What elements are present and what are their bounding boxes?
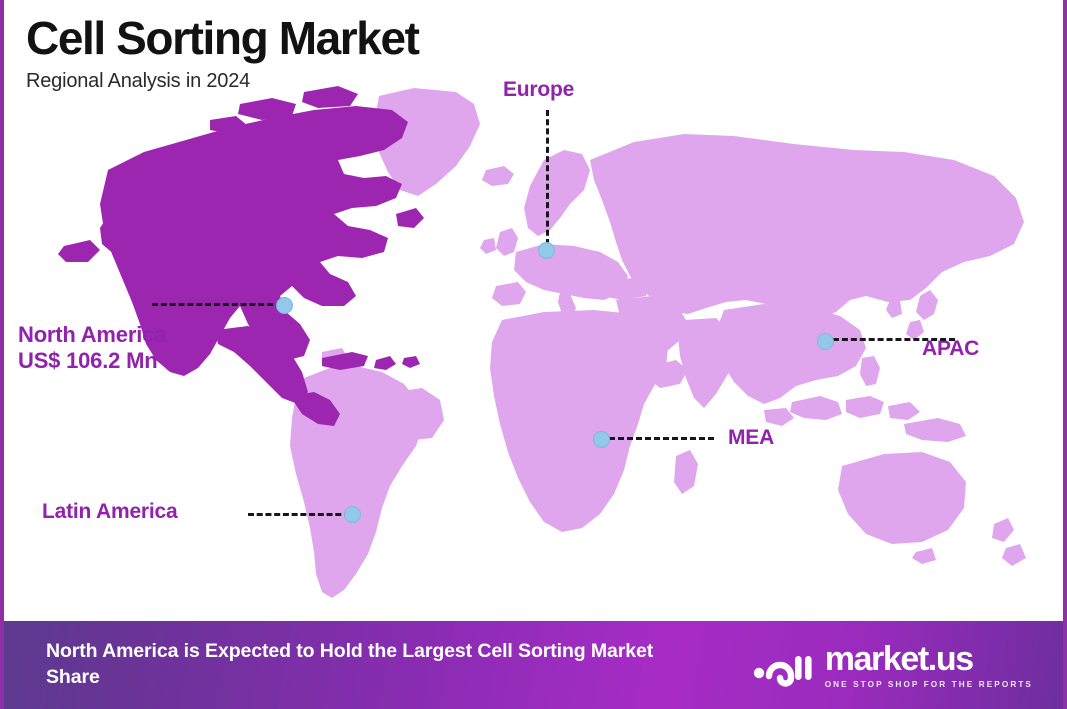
map-marker-mea[interactable] [593, 431, 610, 448]
banner-headline: North America is Expected to Hold the La… [46, 639, 706, 690]
logo-wordmark: market.us [825, 642, 973, 676]
leader-line-europe [546, 110, 549, 245]
map-marker-europe[interactable] [538, 242, 555, 259]
map-marker-north-america[interactable] [276, 297, 293, 314]
bottom-banner: North America is Expected to Hold the La… [4, 621, 1063, 709]
logo-text-block: market.us ONE STOP SHOP FOR THE REPORTS [825, 642, 1033, 689]
map-marker-apac[interactable] [817, 333, 834, 350]
map-marker-latin-america[interactable] [344, 506, 361, 523]
market-us-logo[interactable]: market.us ONE STOP SHOP FOR THE REPORTS [752, 642, 1041, 689]
leader-line-latin-america [248, 513, 350, 516]
leader-line-mea [609, 437, 714, 440]
map-base-regions [290, 88, 1026, 598]
callout-mea: MEA [728, 426, 774, 451]
logo-tagline: ONE STOP SHOP FOR THE REPORTS [825, 680, 1033, 689]
callout-north-america-value: US$ 106.2 Mn [18, 348, 166, 374]
market-us-logo-mark [752, 642, 814, 688]
callout-latin-america: Latin America [42, 500, 178, 525]
leader-line-apac [833, 338, 955, 341]
infographic-root: Cell Sorting Market Regional Analysis in… [0, 0, 1067, 709]
callout-north-america-label: North America [18, 322, 166, 348]
leader-line-north-america [152, 303, 282, 306]
header: Cell Sorting Market Regional Analysis in… [4, 0, 1063, 93]
page-title: Cell Sorting Market [26, 14, 1063, 64]
page-subtitle: Regional Analysis in 2024 [26, 70, 1063, 93]
callout-north-america: North America US$ 106.2 Mn [18, 322, 166, 374]
